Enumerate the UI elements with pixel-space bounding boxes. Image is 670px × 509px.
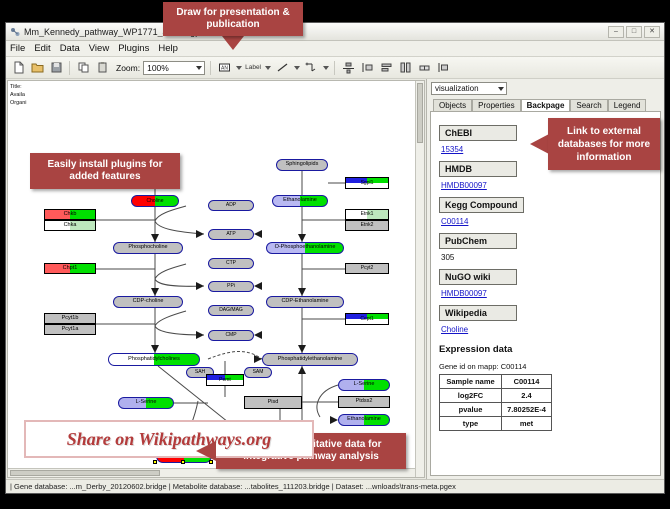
pathway-node-chkb[interactable]: Chkb [44, 209, 96, 220]
tab-properties[interactable]: Properties [472, 99, 520, 111]
pathway-node-cept1[interactable]: Cept1 [345, 313, 389, 325]
pathway-node-sgpl1[interactable]: Sgpl1 [345, 177, 389, 189]
pathway-node-cdp_ethanolamine[interactable]: CDP-Ethanolamine [266, 296, 344, 308]
pathway-node-phosphocholine[interactable]: Phosphocholine [113, 242, 183, 254]
pathway-node-label: Phosphatidylcholines [128, 357, 180, 363]
status-bar: | Gene database: ...m_Derby_20120602.bri… [6, 479, 664, 493]
pathway-node-label: ADP [226, 203, 236, 208]
pathway-node-label: Ethanolamine [347, 417, 381, 423]
pathway-node-label: CMP [225, 333, 236, 338]
chevron-down-icon[interactable] [196, 66, 202, 70]
window-controls: – □ ✕ [608, 26, 660, 38]
pathway-node-etnk1[interactable]: Etnk1 [345, 209, 389, 220]
pathway-node-label: Choline [147, 199, 164, 204]
pathway-node-label: Ptdss2 [356, 399, 373, 405]
pathvisio-window: Mm_Kennedy_pathway_WP1771_45176.gpml – □… [5, 22, 665, 494]
menu-item-file[interactable]: File [10, 43, 25, 54]
minimize-button[interactable]: – [608, 26, 624, 38]
menu-item-help[interactable]: Help [158, 43, 178, 54]
copy-icon[interactable] [75, 60, 91, 76]
pathway-node-ethanolamine_top[interactable]: Ethanolamine [272, 195, 328, 207]
pathway-node-label: Pcyt1a [62, 327, 79, 333]
callout-plugins: Easily install plugins for added feature… [30, 153, 180, 189]
pathway-node-label: Pcyt1b [62, 316, 79, 322]
toolbar-separator [69, 61, 70, 75]
pathway-node-label: O-Phosphoethanolamine [275, 245, 336, 251]
pathway-node-label: PPi [227, 284, 235, 289]
pathway-canvas[interactable]: Title: Availa Organi [7, 80, 425, 478]
pathway-node-label: Sgpl1 [361, 181, 374, 186]
open-folder-icon[interactable] [29, 60, 45, 76]
pathway-node-label: CDP-choline [133, 299, 164, 305]
pathway-node-etnk2[interactable]: Etnk2 [345, 220, 389, 231]
canvas-horizontal-scrollbar[interactable] [8, 468, 415, 477]
db-link-hmdb[interactable]: HMDB00097 [441, 181, 652, 190]
maximize-button[interactable]: □ [626, 26, 642, 38]
pathway-node-atp[interactable]: ATP [208, 229, 254, 240]
expr-val-0: C00114 [502, 375, 552, 389]
pathway-node-label: SAM [253, 370, 264, 375]
visualization-dropdown[interactable]: visualization [431, 82, 507, 95]
pathway-node-ctp[interactable]: CTP [208, 258, 254, 269]
order-icon[interactable] [435, 60, 451, 76]
pathway-node-label: ATP [226, 232, 235, 237]
datanode-icon[interactable]: AN [216, 60, 232, 76]
menubar: File Edit Data View Plugins Help [6, 41, 664, 57]
svg-text:AN: AN [221, 66, 228, 72]
pathway-node-l_serine_left[interactable]: L-Serine [118, 397, 174, 409]
pathway-node-phosphatidylcholines[interactable]: Phosphatidylcholines [108, 353, 200, 366]
pathway-node-l_serine_right[interactable]: L-Serine [338, 379, 390, 391]
new-document-icon[interactable] [10, 60, 26, 76]
tab-legend[interactable]: Legend [608, 99, 647, 111]
pathway-node-cdp_choline[interactable]: CDP-choline [113, 296, 183, 308]
expr-val-1: 2.4 [502, 389, 552, 403]
menu-item-view[interactable]: View [89, 43, 109, 54]
gene-id-label: Gene id on mapp: C00114 [439, 362, 652, 371]
callout-draw: Draw for presentation & publication [163, 2, 303, 36]
chevron-down-icon[interactable] [498, 87, 504, 91]
pathway-node-label: SAH [195, 370, 205, 375]
pathway-node-chka[interactable]: Chka [44, 220, 96, 231]
callout-link-arrow [530, 134, 549, 154]
pathway-node-ethanolamine_right[interactable]: Ethanolamine [338, 414, 390, 426]
pathway-node-chpt1[interactable]: Chpt1 [44, 263, 96, 274]
selection-handle[interactable] [181, 460, 185, 464]
canvas-title-block: Title: Availa Organi [10, 83, 27, 107]
app-icon [10, 27, 20, 37]
pathway-node-pcyt1b[interactable]: Pcyt1b [44, 313, 96, 324]
table-row: log2FC 2.4 [440, 389, 552, 403]
db-link-nugo[interactable]: HMDB00097 [441, 289, 652, 298]
toolbar-separator-3 [334, 61, 335, 75]
table-row: type met [440, 417, 552, 431]
callout-draw-arrow [222, 36, 244, 50]
canvas-hscroll-thumb[interactable] [10, 470, 160, 476]
visualization-value: visualization [435, 84, 479, 93]
pathway-node-label: Pisd [268, 400, 279, 406]
expression-data-heading: Expression data [439, 344, 652, 355]
pathway-node-pisd[interactable]: Pisd [244, 396, 302, 409]
expr-key-1: log2FC [440, 389, 502, 403]
save-icon[interactable] [48, 60, 64, 76]
db-value-pubchem: 305 [441, 253, 652, 262]
stack-icon[interactable] [378, 60, 394, 76]
pathway-node-label: Phosphocholine [128, 245, 167, 251]
menu-item-data[interactable]: Data [60, 43, 80, 54]
tab-backpage[interactable]: Backpage [521, 99, 571, 111]
size-icon[interactable] [397, 60, 413, 76]
zoom-input[interactable]: 100% [143, 61, 205, 75]
db-header-kegg: Kegg Compound [439, 197, 524, 213]
pathway-node-o_phosphoethanolamine[interactable]: O-Phosphoethanolamine [266, 242, 344, 254]
group-icon[interactable] [416, 60, 432, 76]
pathway-node-label: CDP-Ethanolamine [281, 299, 328, 305]
tab-search[interactable]: Search [570, 99, 607, 111]
pathway-node-label: Chka [64, 223, 77, 229]
anchor-dropdown-icon[interactable] [323, 66, 329, 70]
wikipathways-text: Share on Wikipathways.org [67, 429, 272, 450]
db-header-chebi: ChEBI [439, 125, 517, 141]
pathway-node-label: Pcyt2 [361, 266, 374, 271]
pathway-node-ppi[interactable]: PPi [208, 281, 254, 292]
db-header-pubchem: PubChem [439, 233, 517, 249]
pathway-node-label: DAG/MAG [219, 308, 243, 313]
pathway-node-pcyt2[interactable]: Pcyt2 [345, 263, 389, 274]
pathway-node-dagmag[interactable]: DAG/MAG [208, 305, 254, 316]
callout-draw-text: Draw for presentation & publication [169, 7, 297, 31]
pathway-node-sam[interactable]: SAM [244, 367, 272, 378]
pathway-node-label: Chkb [64, 212, 77, 218]
pathway-node-label: L-Serine [354, 382, 375, 388]
expr-key-3: type [440, 417, 502, 431]
wikipathways-banner: Share on Wikipathways.org [24, 420, 314, 458]
pathway-node-cmp[interactable]: CMP [208, 330, 254, 341]
callout-visualize-arrow [196, 441, 216, 461]
pathway-node-label: Etnk1 [361, 212, 374, 217]
line-icon[interactable] [274, 60, 290, 76]
pathway-node-pcyt1a[interactable]: Pcyt1a [44, 324, 96, 335]
canvas-title-line-2: Organi [10, 99, 27, 107]
expression-table: Sample name C00114 log2FC 2.4 pvalue 7.8… [439, 374, 552, 431]
align-icon[interactable] [340, 60, 356, 76]
zoom-label: Zoom: [116, 63, 140, 73]
selection-handle[interactable] [153, 460, 157, 464]
callout-link: Link to external databases for more info… [548, 118, 660, 170]
pathway-node-label: Sphingolipids [286, 162, 319, 168]
pathway-node-label: Etnk2 [361, 223, 374, 228]
pathway-node-label: L-Serine [136, 400, 157, 406]
window-titlebar: Mm_Kennedy_pathway_WP1771_45176.gpml – □… [6, 23, 664, 41]
pathway-node-phosphatidylethanolamine[interactable]: Phosphatidylethanolamine [262, 353, 358, 366]
expr-key-0: Sample name [440, 375, 502, 389]
menu-item-edit[interactable]: Edit [34, 43, 50, 54]
zoom-value: 100% [147, 63, 169, 73]
pathway-node-label: CTP [226, 261, 236, 266]
expr-val-2: 7.80252E-4 [502, 403, 552, 417]
canvas-title-line-0: Title: [10, 83, 27, 91]
pathway-node-pemt[interactable]: Pemt [206, 374, 244, 386]
tab-objects[interactable]: Objects [433, 99, 472, 111]
db-link-wikipedia[interactable]: Choline [441, 325, 652, 334]
status-text: | Gene database: ...m_Derby_20120602.bri… [10, 482, 456, 491]
canvas-vertical-scrollbar[interactable] [415, 81, 424, 477]
db-header-nugo: NuGO wiki [439, 269, 517, 285]
distribute-icon[interactable] [359, 60, 375, 76]
pathway-node-sphingolipids[interactable]: Sphingolipids [276, 159, 328, 171]
pathway-node-choline_top[interactable]: Choline [131, 195, 179, 207]
db-header-wikipedia: Wikipedia [439, 305, 517, 321]
toolbar-separator-2 [210, 61, 211, 75]
pathway-node-ptdss2[interactable]: Ptdss2 [338, 396, 390, 408]
expr-val-3: met [502, 417, 552, 431]
pathway-node-label: Ethanolamine [283, 198, 317, 204]
datanode-dropdown-icon[interactable] [236, 66, 242, 70]
label-tool-text[interactable]: Label [245, 64, 261, 71]
db-link-kegg[interactable]: C00114 [441, 217, 652, 226]
pathway-node-label: Cept1 [360, 317, 373, 322]
panel-tabs: Objects Properties Backpage Search Legen… [427, 97, 664, 111]
canvas-vscroll-thumb[interactable] [417, 83, 423, 143]
pathway-node-label: Pemt [219, 378, 231, 383]
toolbar: Zoom: 100% AN Label [6, 57, 664, 79]
paste-icon[interactable] [94, 60, 110, 76]
canvas-title-line-1: Availa [10, 91, 27, 99]
menu-item-plugins[interactable]: Plugins [118, 43, 149, 54]
callout-link-text: Link to external databases for more info… [554, 125, 654, 164]
pathway-node-label: Chpt1 [63, 266, 78, 272]
callout-plugins-text: Easily install plugins for added feature… [36, 159, 174, 183]
anchor-icon[interactable] [303, 60, 319, 76]
pathway-node-label: Phosphatidylethanolamine [278, 357, 343, 363]
close-button[interactable]: ✕ [644, 26, 660, 38]
expr-key-2: pvalue [440, 403, 502, 417]
table-row: pvalue 7.80252E-4 [440, 403, 552, 417]
label-dropdown-icon[interactable] [265, 66, 271, 70]
line-dropdown-icon[interactable] [294, 66, 300, 70]
pathway-node-adp[interactable]: ADP [208, 200, 254, 211]
visualization-row: visualization [427, 79, 664, 97]
table-row: Sample name C00114 [440, 375, 552, 389]
db-header-hmdb: HMDB [439, 161, 517, 177]
